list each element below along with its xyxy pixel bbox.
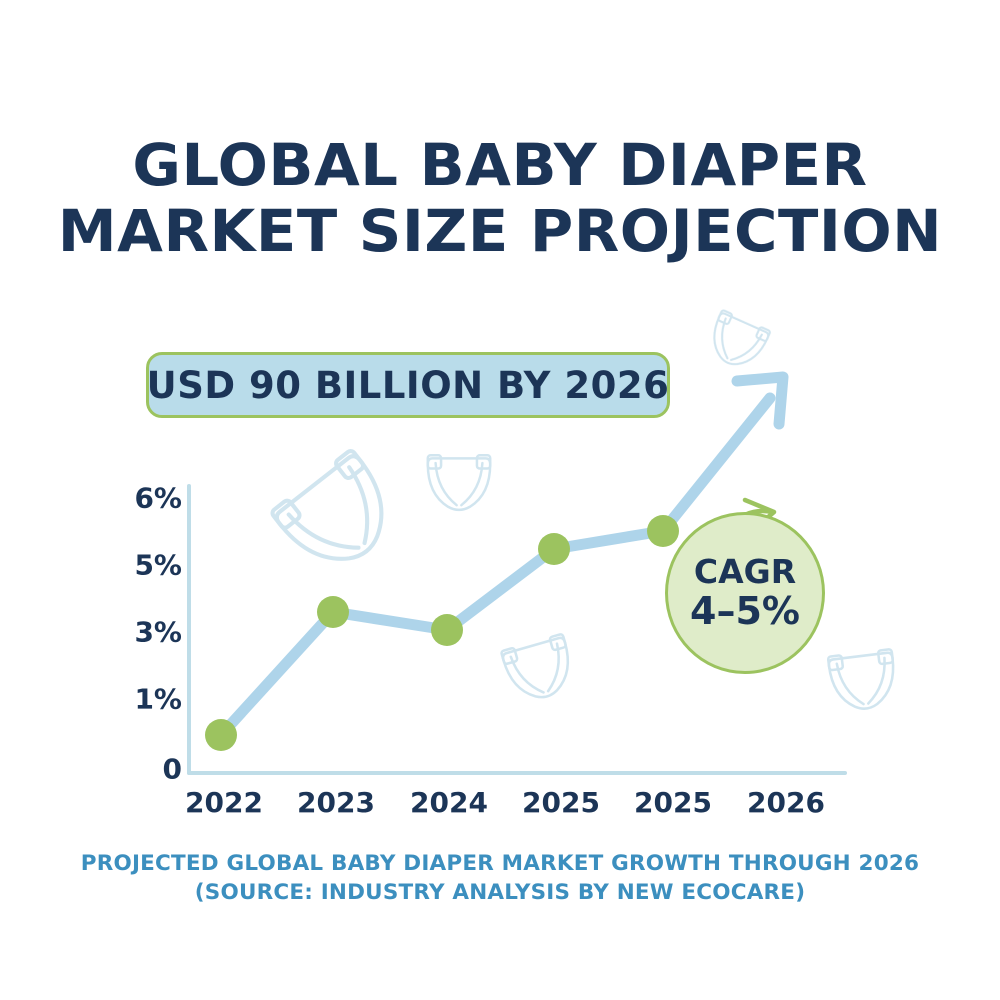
x-tick-label: 2025 — [506, 786, 616, 819]
trend-arrow-icon — [737, 377, 783, 424]
y-tick-label: 6% — [118, 482, 182, 515]
infographic-root: GLOBAL BABY DIAPER MARKET SIZE PROJECTIO… — [0, 0, 1000, 1000]
x-tick-label: 2026 — [731, 786, 841, 819]
diaper-icon — [428, 455, 490, 510]
cagr-annotation-bubble: CAGR 4–5% — [665, 512, 825, 674]
chart-caption: PROJECTED GLOBAL BABY DIAPER MARKET GROW… — [0, 849, 1000, 907]
x-tick-label: 2024 — [394, 786, 504, 819]
data-point — [431, 614, 463, 646]
x-tick-label: 2022 — [169, 786, 279, 819]
data-point-markers — [205, 515, 679, 751]
y-tick-label: 1% — [118, 683, 182, 716]
caption-line-2: (SOURCE: INDUSTRY ANALYSIS BY NEW ECOCAR… — [40, 878, 960, 907]
diaper-icon — [271, 449, 407, 583]
page-title: GLOBAL BABY DIAPER MARKET SIZE PROJECTIO… — [0, 132, 1000, 264]
data-point — [205, 719, 237, 751]
data-point — [317, 596, 349, 628]
data-point — [647, 515, 679, 547]
diaper-icon — [828, 649, 898, 712]
diaper-icon — [704, 310, 771, 374]
title-line-1: GLOBAL BABY DIAPER — [31, 132, 969, 198]
data-point — [538, 533, 570, 565]
diaper-icon — [501, 634, 578, 705]
highlight-badge-label: USD 90 BILLION BY 2026 — [147, 364, 670, 407]
caption-line-1: PROJECTED GLOBAL BABY DIAPER MARKET GROW… — [40, 849, 960, 878]
highlight-badge: USD 90 BILLION BY 2026 — [146, 352, 670, 418]
y-tick-label: 3% — [118, 616, 182, 649]
y-tick-label: 5% — [118, 549, 182, 582]
x-tick-label: 2025 — [618, 786, 728, 819]
y-tick-label: 0 — [118, 753, 182, 786]
x-tick-label: 2023 — [281, 786, 391, 819]
cagr-value: 4–5% — [690, 591, 800, 631]
cagr-label: CAGR — [694, 555, 796, 589]
title-line-2: MARKET SIZE PROJECTION — [31, 198, 969, 264]
